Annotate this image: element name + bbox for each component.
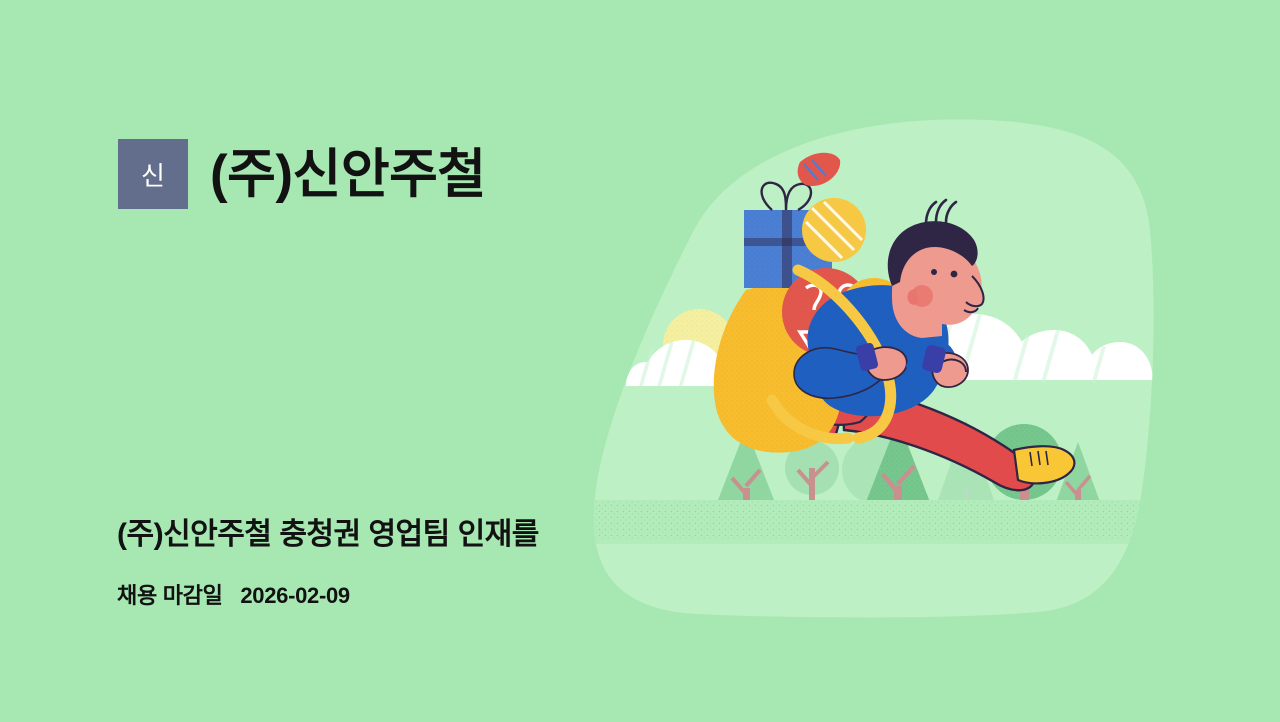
illustration-running-man-with-gift-sack: [586, 90, 1166, 620]
ground: [566, 500, 1206, 544]
job-posting-card: 신 (주)신안주철 (주)신안주철 충청권 영업팀 인재를 채용 마감일 202…: [0, 0, 1280, 722]
illustration-blob: [566, 70, 1206, 670]
company-name: (주)신안주철: [210, 148, 486, 201]
company-header: 신 (주)신안주철: [118, 131, 486, 217]
ornament-yellow-ball: [802, 198, 866, 262]
deadline-date: 2026-02-09: [240, 583, 350, 608]
deadline-label: 채용 마감일: [117, 583, 223, 608]
job-title: (주)신안주철 충청권 영업팀 인재를: [117, 515, 539, 554]
company-logo-badge: 신: [118, 139, 188, 209]
deadline-row: 채용 마감일 2026-02-09: [117, 583, 350, 609]
